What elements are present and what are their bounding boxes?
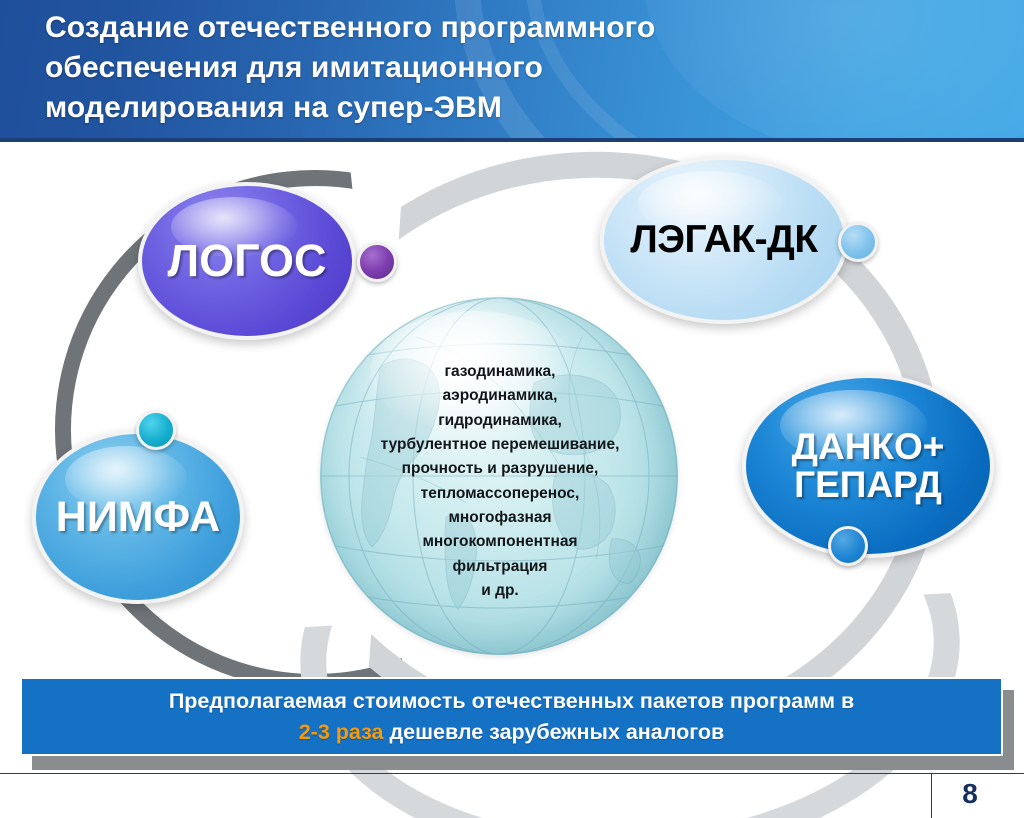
node-logos[interactable]: ЛОГОС: [138, 182, 356, 340]
globe-topic: фильтрация: [310, 555, 690, 579]
page-number: 8: [940, 778, 1000, 810]
node-logos-label: ЛОГОС: [168, 238, 327, 284]
node-nimfa[interactable]: НИМФА: [32, 430, 244, 604]
globe-topic: тепломассоперенос,: [310, 482, 690, 506]
node-nimfa-label: НИМФА: [56, 495, 220, 539]
diagram-stage: газодинамика, аэродинамика, гидродинамик…: [0, 142, 1024, 687]
globe-topic: многофазная: [310, 506, 690, 530]
connector-dot-legak-dk: [838, 222, 878, 262]
globe-topic: газодинамика,: [310, 360, 690, 384]
footer-divider: [931, 773, 932, 818]
cost-banner-text: Предполагаемая стоимость отечественных п…: [169, 686, 854, 747]
cost-banner-line2-tail: дешевле зарубежных аналогов: [383, 720, 724, 744]
globe-topic: многокомпонентная: [310, 530, 690, 554]
footer-rule: [0, 773, 1024, 774]
cost-banner: Предполагаемая стоимость отечественных п…: [20, 677, 1003, 756]
connector-dot-nimfa: [136, 410, 176, 450]
globe-topic: аэродинамика,: [310, 384, 690, 408]
node-danko-gepard-label: ДАНКО+ ГЕПАРД: [792, 428, 945, 504]
node-legak-dk[interactable]: ЛЭГАК-ДК: [600, 156, 848, 324]
node-legak-dk-label: ЛЭГАК-ДК: [630, 220, 817, 260]
node-danko-line2: ГЕПАРД: [794, 464, 942, 505]
globe-topic: прочность и разрушение,: [310, 457, 690, 481]
cost-banner-line1: Предполагаемая стоимость отечественных п…: [169, 689, 854, 713]
cost-banner-highlight: 2-3 раза: [299, 720, 384, 744]
node-danko-gepard[interactable]: ДАНКО+ ГЕПАРД: [742, 374, 994, 558]
connector-dot-logos: [357, 242, 397, 282]
globe-topic: гидродинамика,: [310, 409, 690, 433]
node-danko-line1: ДАНКО+: [792, 426, 945, 467]
globe-topic: турбулентное перемешивание,: [310, 433, 690, 457]
slide-canvas: Создание отечественного программного обе…: [0, 0, 1024, 818]
globe-topic: и др.: [310, 579, 690, 603]
connector-dot-danko-gepard: [828, 526, 868, 566]
globe-topics-list: газодинамика, аэродинамика, гидродинамик…: [310, 360, 690, 603]
slide-title: Создание отечественного программного обе…: [45, 8, 925, 128]
